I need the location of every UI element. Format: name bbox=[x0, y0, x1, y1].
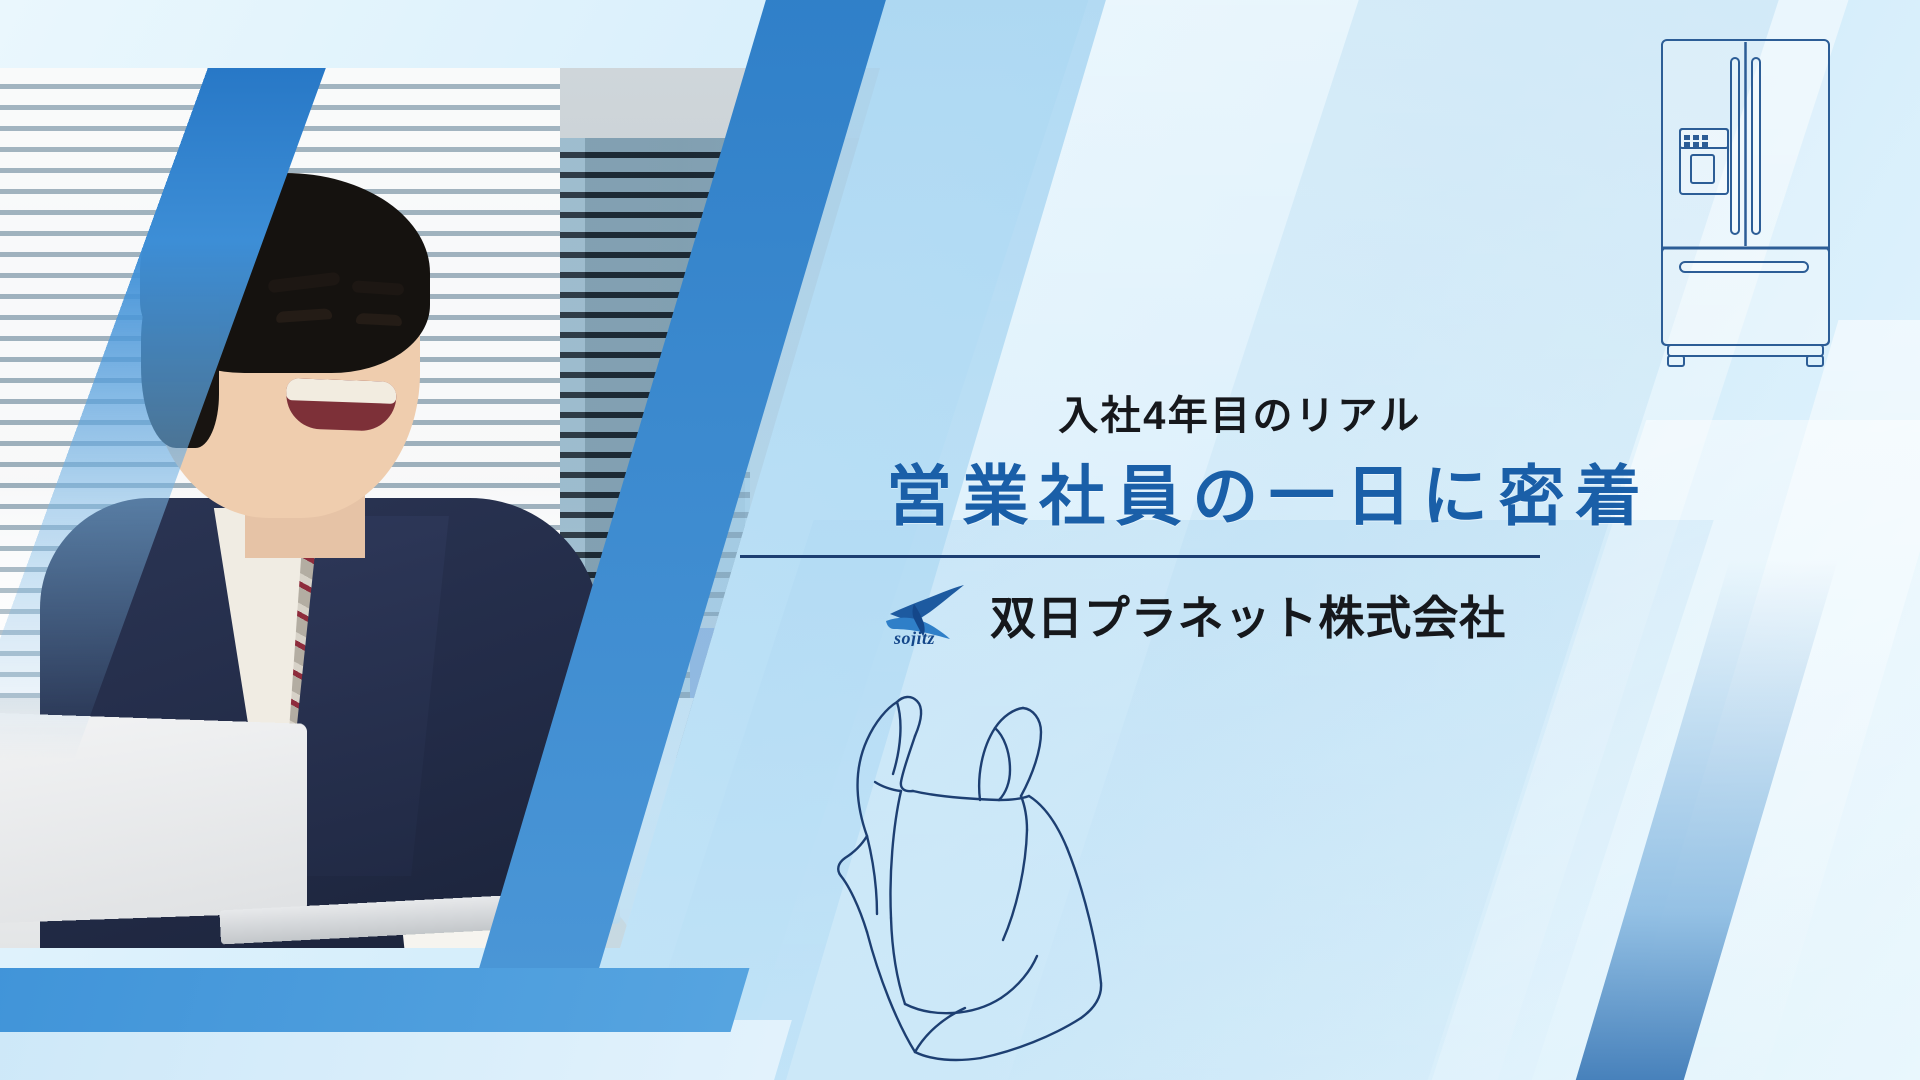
refrigerator-illustration bbox=[1658, 36, 1833, 386]
subtitle-text: 入社4年目のリアル bbox=[900, 392, 1580, 440]
company-name: 双日プラネット株式会社 bbox=[990, 582, 1506, 648]
thumbnail-canvas: 入社4年目のリアル 営業社員の一日に密着 sojitz 双日プラネット株式会社 bbox=[0, 0, 1920, 1080]
svg-text:sojitz: sojitz bbox=[893, 628, 935, 646]
brand-row: sojitz 双日プラネット株式会社 bbox=[810, 582, 1580, 648]
person-teeth bbox=[286, 378, 397, 404]
title-block: 入社4年目のリアル 営業社員の一日に密着 sojitz 双日プラネット株式会社 bbox=[900, 392, 1580, 648]
page-title: 営業社員の一日に密着 bbox=[886, 456, 1580, 537]
sojitz-logo-icon: sojitz bbox=[884, 584, 972, 646]
person-mouth bbox=[285, 378, 397, 432]
shopping-bag-illustration bbox=[805, 678, 1125, 1068]
title-divider bbox=[740, 555, 1540, 558]
person-eye-right bbox=[356, 313, 403, 326]
